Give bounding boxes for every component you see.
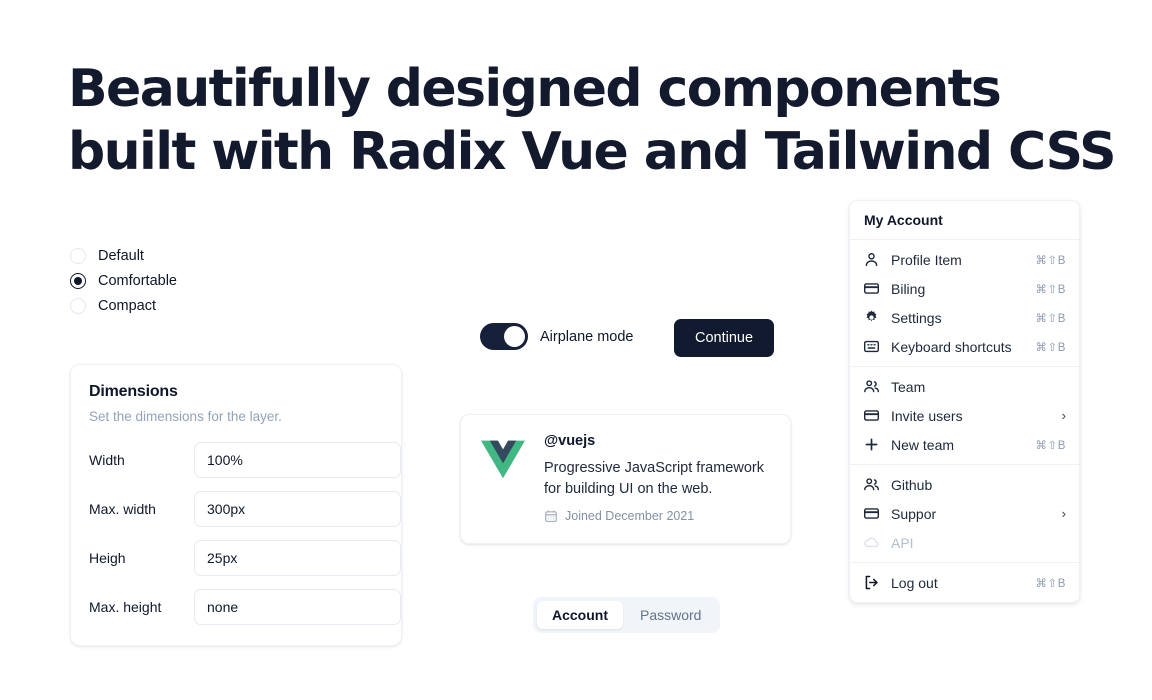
hover-card-handle: @vuejs: [544, 433, 770, 449]
menu-item-log-out[interactable]: Log out ⌘⇧B: [850, 568, 1079, 597]
plus-icon: [863, 436, 880, 453]
tab-password[interactable]: Password: [625, 601, 716, 629]
menu-item-label: New team: [891, 437, 1024, 453]
max-width-input[interactable]: [194, 491, 401, 527]
switch-knob: [504, 326, 525, 347]
menu-item-profile[interactable]: Profile Item ⌘⇧B: [850, 245, 1079, 274]
users-icon: [863, 476, 880, 493]
hover-card-description: Progressive JavaScript framework for bui…: [544, 458, 770, 500]
airplane-mode-row: Airplane mode: [480, 323, 634, 350]
menu-item-shortcut: ⌘⇧B: [1035, 311, 1066, 325]
menu-item-label: Settings: [891, 310, 1024, 326]
keyboard-icon: [863, 338, 880, 355]
menu-item-support[interactable]: Suppor ›: [850, 499, 1079, 528]
menu-item-label: Invite users: [891, 408, 1051, 424]
radio-option-default[interactable]: Default: [70, 248, 177, 264]
menu-group-links: Github Suppor › API: [850, 465, 1079, 562]
radio-label: Default: [98, 248, 144, 264]
page-root: Beautifully designed components built wi…: [0, 0, 1152, 700]
menu-item-invite-users[interactable]: Invite users ›: [850, 401, 1079, 430]
field-label-max-width: Max. width: [89, 501, 194, 517]
radio-group: Default Comfortable Compact: [70, 248, 177, 314]
vue-logo-icon: [481, 436, 525, 476]
hover-card-meta: Joined December 2021: [544, 509, 770, 523]
menu-item-shortcut: ⌘⇧B: [1035, 576, 1066, 590]
menu-item-github[interactable]: Github: [850, 470, 1079, 499]
page-title-line-2: built with Radix Vue and Tailwind CSS: [68, 121, 1028, 184]
menu-item-label: API: [891, 535, 1066, 551]
gear-icon: [863, 309, 880, 326]
credit-card-icon: [863, 280, 880, 297]
menu-label: My Account: [850, 201, 1079, 239]
dimensions-title: Dimensions: [89, 383, 383, 401]
field-row-height: Heigh: [89, 540, 383, 576]
field-row-max-height: Max. height: [89, 589, 383, 625]
width-input[interactable]: [194, 442, 401, 478]
credit-card-icon: [863, 505, 880, 522]
chevron-right-icon: ›: [1062, 409, 1066, 422]
joined-date: Joined December 2021: [565, 509, 694, 523]
menu-item-label: Keyboard shortcuts: [891, 339, 1024, 355]
account-dropdown-menu: My Account Profile Item ⌘⇧B: [849, 200, 1080, 603]
tabs-list: Account Password: [533, 597, 720, 633]
airplane-mode-label: Airplane mode: [540, 329, 634, 345]
hero-section: Beautifully designed components built wi…: [68, 58, 1028, 184]
hover-card-body: @vuejs Progressive JavaScript framework …: [544, 433, 770, 523]
menu-item-shortcut: ⌘⇧B: [1035, 253, 1066, 267]
cloud-icon: [863, 534, 880, 551]
calendar-icon: [544, 509, 558, 523]
page-title: Beautifully designed components built wi…: [68, 58, 1028, 184]
menu-item-shortcut: ⌘⇧B: [1035, 340, 1066, 354]
menu-item-shortcut: ⌘⇧B: [1035, 438, 1066, 452]
page-title-line-1: Beautifully designed components: [68, 58, 1028, 121]
height-input[interactable]: [194, 540, 401, 576]
menu-item-settings[interactable]: Settings ⌘⇧B: [850, 303, 1079, 332]
menu-item-keyboard-shortcuts[interactable]: Keyboard shortcuts ⌘⇧B: [850, 332, 1079, 361]
menu-item-shortcut: ⌘⇧B: [1035, 282, 1066, 296]
chevron-right-icon: ›: [1062, 507, 1066, 520]
menu-item-label: Log out: [891, 575, 1024, 591]
radio-indicator[interactable]: [70, 298, 86, 314]
menu-item-billing[interactable]: Biling ⌘⇧B: [850, 274, 1079, 303]
users-icon: [863, 378, 880, 395]
continue-button[interactable]: Continue: [674, 319, 774, 357]
menu-group-account: Profile Item ⌘⇧B Biling ⌘⇧B: [850, 240, 1079, 366]
menu-item-label: Suppor: [891, 506, 1051, 522]
menu-item-label: Profile Item: [891, 252, 1024, 268]
menu-item-team[interactable]: Team: [850, 372, 1079, 401]
tab-account[interactable]: Account: [537, 601, 623, 629]
radio-indicator[interactable]: [70, 248, 86, 264]
menu-item-label: Biling: [891, 281, 1024, 297]
menu-item-api: API: [850, 528, 1079, 557]
radio-label: Comfortable: [98, 273, 177, 289]
credit-card-icon: [863, 407, 880, 424]
radio-option-comfortable[interactable]: Comfortable: [70, 273, 177, 289]
dimensions-card: Dimensions Set the dimensions for the la…: [70, 364, 402, 646]
menu-group-team: Team Invite users › New tea: [850, 367, 1079, 464]
max-height-input[interactable]: [194, 589, 401, 625]
vuejs-hover-card: @vuejs Progressive JavaScript framework …: [460, 414, 791, 544]
menu-group-logout: Log out ⌘⇧B: [850, 563, 1079, 602]
dimensions-fields: Width Max. width Heigh Max. height: [89, 442, 383, 625]
menu-item-label: Team: [891, 379, 1066, 395]
field-row-width: Width: [89, 442, 383, 478]
logout-icon: [863, 574, 880, 591]
radio-option-compact[interactable]: Compact: [70, 298, 177, 314]
field-row-max-width: Max. width: [89, 491, 383, 527]
menu-item-new-team[interactable]: New team ⌘⇧B: [850, 430, 1079, 459]
field-label-height: Heigh: [89, 550, 194, 566]
airplane-mode-switch[interactable]: [480, 323, 528, 350]
radio-indicator-selected[interactable]: [70, 273, 86, 289]
field-label-width: Width: [89, 452, 194, 468]
radio-label: Compact: [98, 298, 156, 314]
menu-item-label: Github: [891, 477, 1066, 493]
user-icon: [863, 251, 880, 268]
dimensions-description: Set the dimensions for the layer.: [89, 409, 383, 424]
field-label-max-height: Max. height: [89, 599, 194, 615]
